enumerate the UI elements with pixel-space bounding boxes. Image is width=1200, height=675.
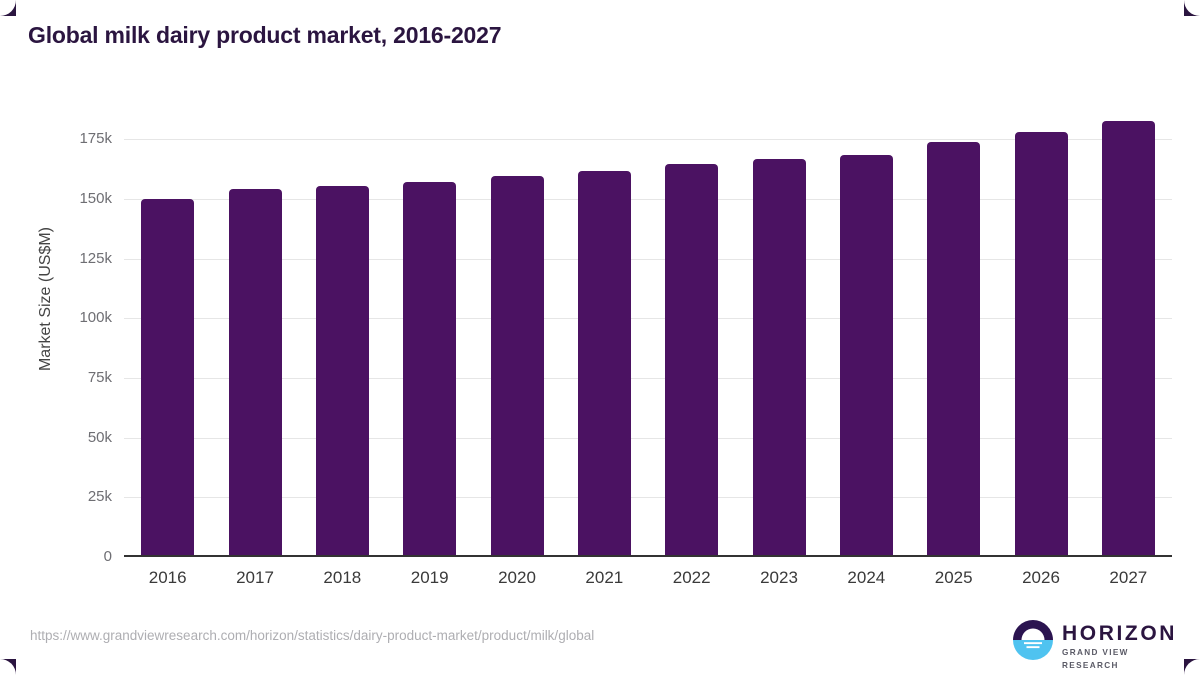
x-axis-tick-label: 2020 bbox=[498, 568, 536, 588]
logo-text-block: HORIZON GRAND VIEW RESEARCH bbox=[1062, 623, 1177, 672]
y-axis-tick-label: 75k bbox=[0, 369, 112, 386]
chart-page: Global milk dairy product market, 2016-2… bbox=[0, 0, 1200, 675]
x-axis-tick-label: 2025 bbox=[935, 568, 973, 588]
y-axis-tick-label: 150k bbox=[0, 190, 112, 207]
plot-area: 025k50k75k100k125k150k175k 2016201720182… bbox=[124, 120, 1172, 557]
y-axis-tick-label: 25k bbox=[0, 488, 112, 505]
bar[interactable] bbox=[403, 182, 456, 557]
x-axis-tick-label: 2026 bbox=[1022, 568, 1060, 588]
bar[interactable] bbox=[229, 189, 282, 557]
bar[interactable] bbox=[578, 171, 631, 557]
x-axis-tick-label: 2018 bbox=[323, 568, 361, 588]
x-axis-tick-label: 2024 bbox=[847, 568, 885, 588]
bar[interactable] bbox=[491, 176, 544, 557]
x-axis-line bbox=[124, 555, 1172, 557]
bar[interactable] bbox=[753, 159, 806, 557]
bar[interactable] bbox=[665, 164, 718, 557]
bar[interactable] bbox=[927, 142, 980, 558]
bar[interactable] bbox=[1102, 121, 1155, 557]
y-axis-tick-label: 175k bbox=[0, 130, 112, 147]
x-axis-tick-label: 2016 bbox=[149, 568, 187, 588]
bar[interactable] bbox=[316, 186, 369, 557]
chart-container: Market Size (US$M) 025k50k75k100k125k150… bbox=[0, 0, 1200, 675]
logo-tagline: GRAND VIEW RESEARCH bbox=[1062, 646, 1177, 672]
x-axis-tick-label: 2019 bbox=[411, 568, 449, 588]
bar[interactable] bbox=[1015, 132, 1068, 557]
x-axis-tick-label: 2017 bbox=[236, 568, 274, 588]
bar[interactable] bbox=[840, 155, 893, 557]
y-axis-tick-label: 0 bbox=[0, 548, 112, 565]
y-axis-tick-label: 100k bbox=[0, 309, 112, 326]
y-axis-tick-label: 125k bbox=[0, 250, 112, 267]
bar[interactable] bbox=[141, 199, 194, 557]
x-axis-tick-label: 2027 bbox=[1109, 568, 1147, 588]
brand-logo[interactable]: HORIZON GRAND VIEW RESEARCH bbox=[1012, 617, 1172, 663]
y-axis-tick-label: 50k bbox=[0, 429, 112, 446]
logo-name: HORIZON bbox=[1062, 623, 1177, 644]
horizon-sun-circle-icon bbox=[1012, 619, 1054, 661]
source-url[interactable]: https://www.grandviewresearch.com/horizo… bbox=[30, 628, 594, 643]
x-axis-tick-label: 2021 bbox=[585, 568, 623, 588]
x-axis-tick-label: 2023 bbox=[760, 568, 798, 588]
x-axis-tick-label: 2022 bbox=[673, 568, 711, 588]
